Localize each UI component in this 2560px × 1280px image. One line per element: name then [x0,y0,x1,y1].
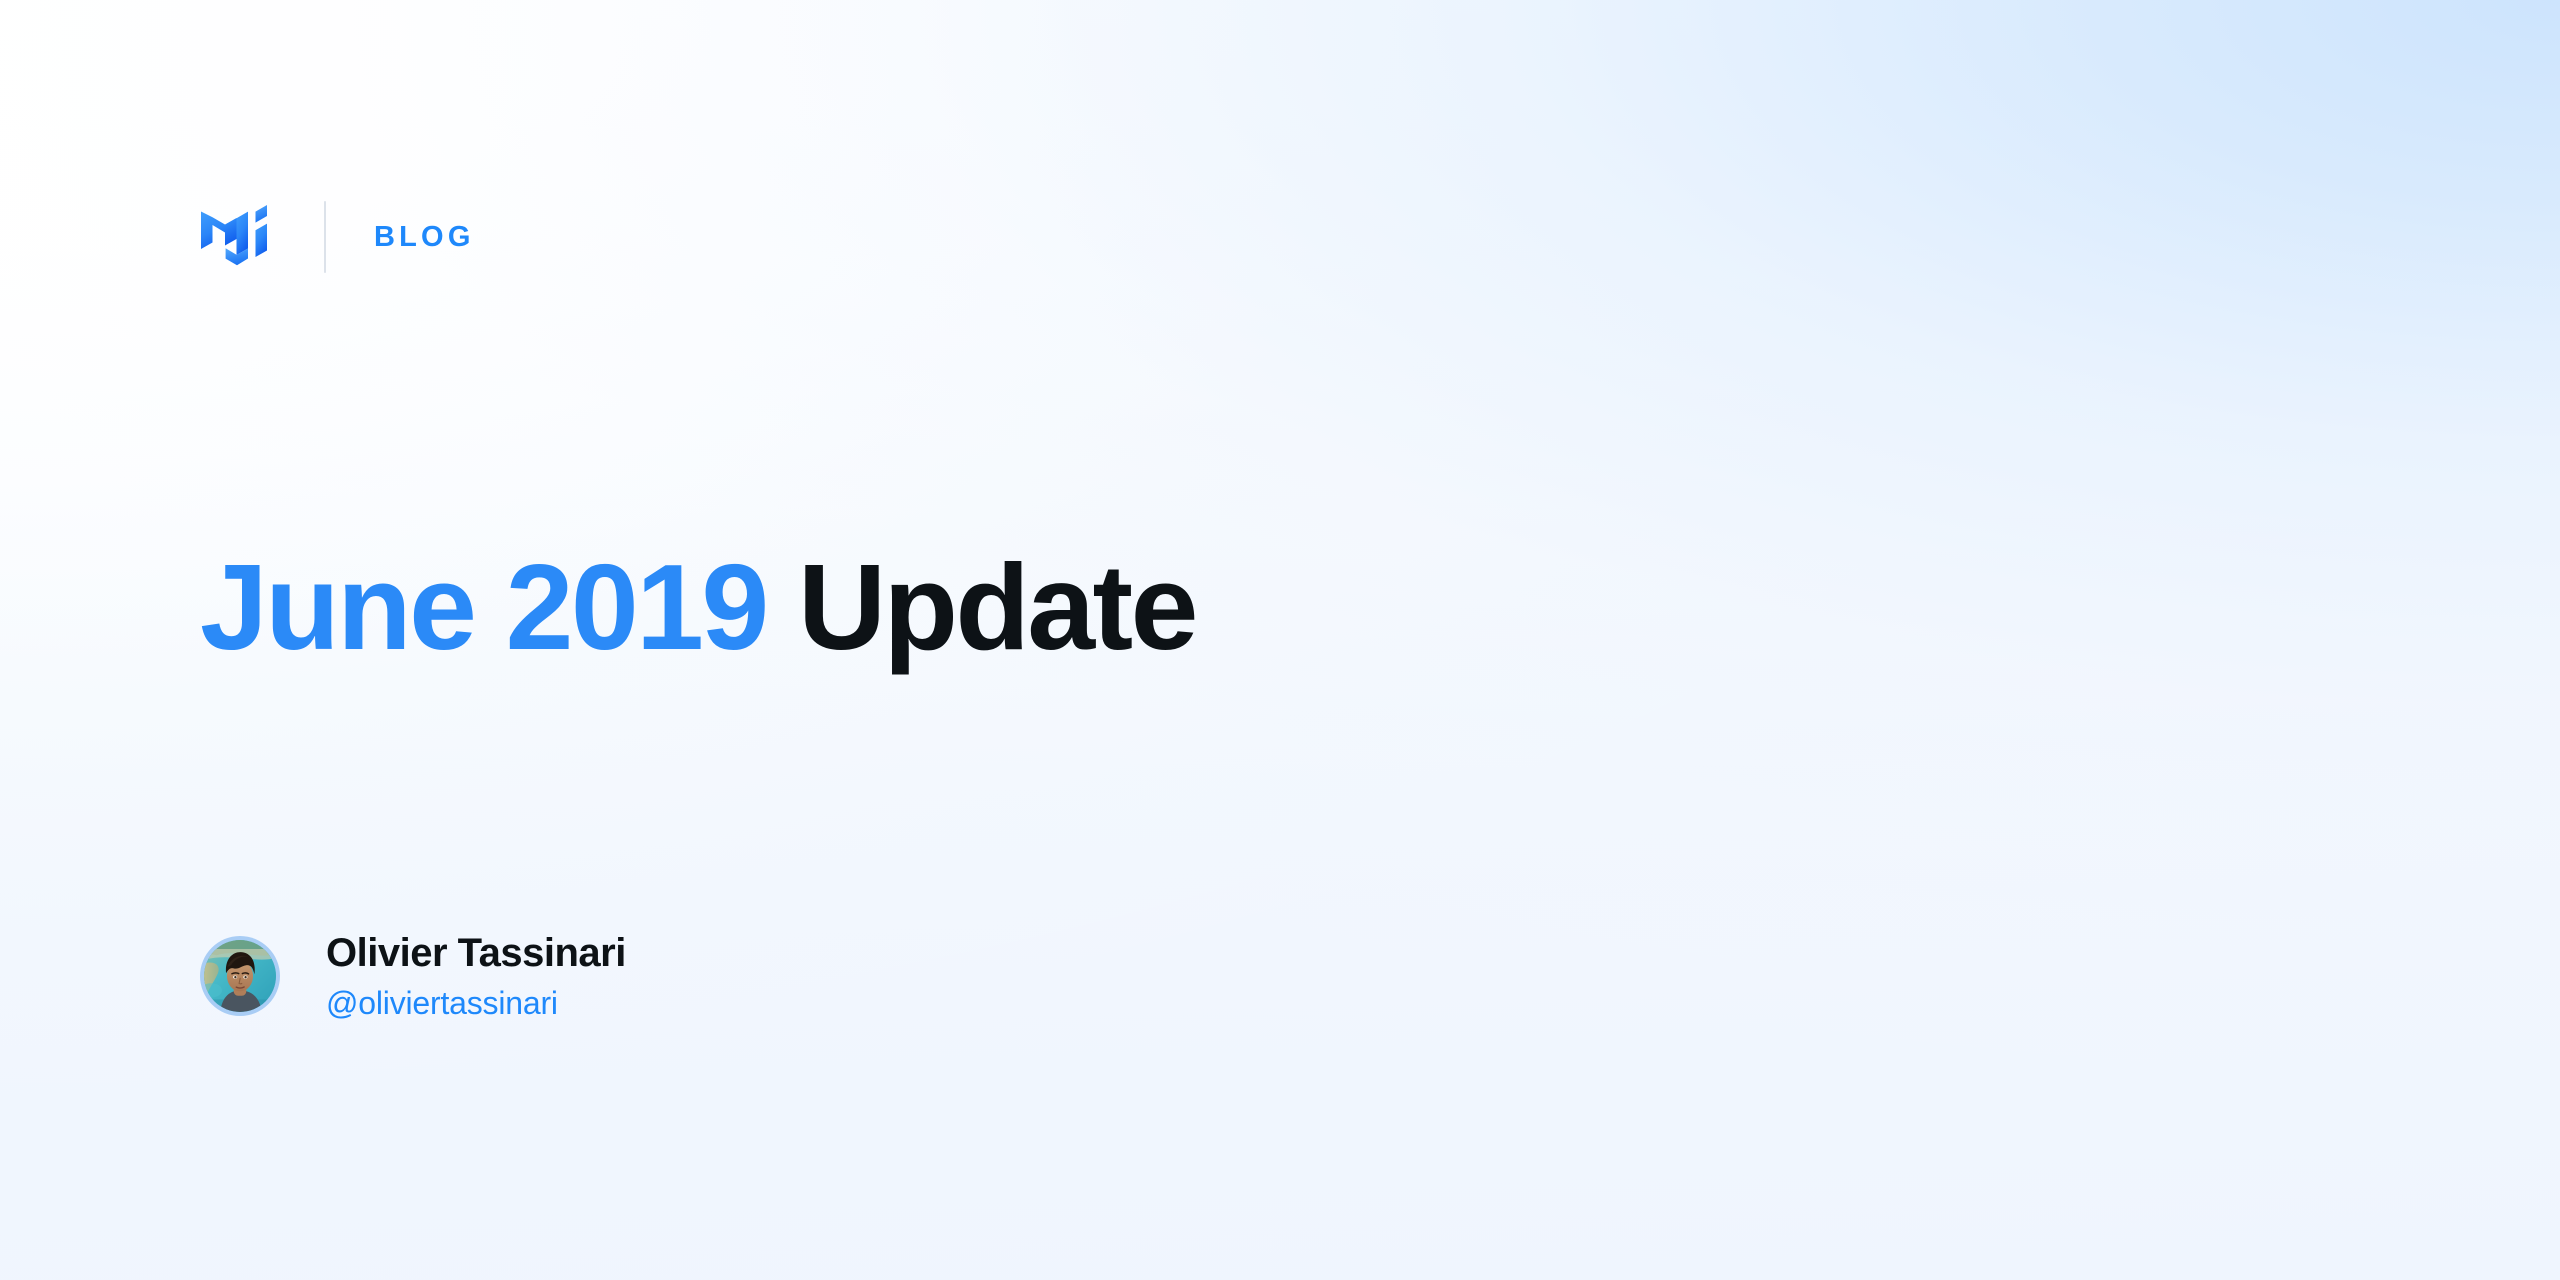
brand-divider [324,201,326,273]
author-block[interactable]: Olivier Tassinari @oliviertassinari [200,930,626,1023]
page-title-accent: June 2019 [200,539,767,675]
author-handle-link[interactable]: @oliviertassinari [326,985,626,1023]
brand-header[interactable]: BLOG [200,195,475,279]
author-name: Olivier Tassinari [326,930,626,977]
avatar[interactable] [204,940,276,1012]
author-text: Olivier Tassinari @oliviertassinari [326,930,626,1023]
avatar-ring [200,936,280,1016]
brand-label-blog[interactable]: BLOG [374,223,475,252]
mui-logo-icon[interactable] [200,202,278,272]
page-title-rest: Update [767,539,1196,675]
hero-card: BLOG June 2019 Update [0,0,2560,1280]
page-title: June 2019 Update [200,542,1196,674]
